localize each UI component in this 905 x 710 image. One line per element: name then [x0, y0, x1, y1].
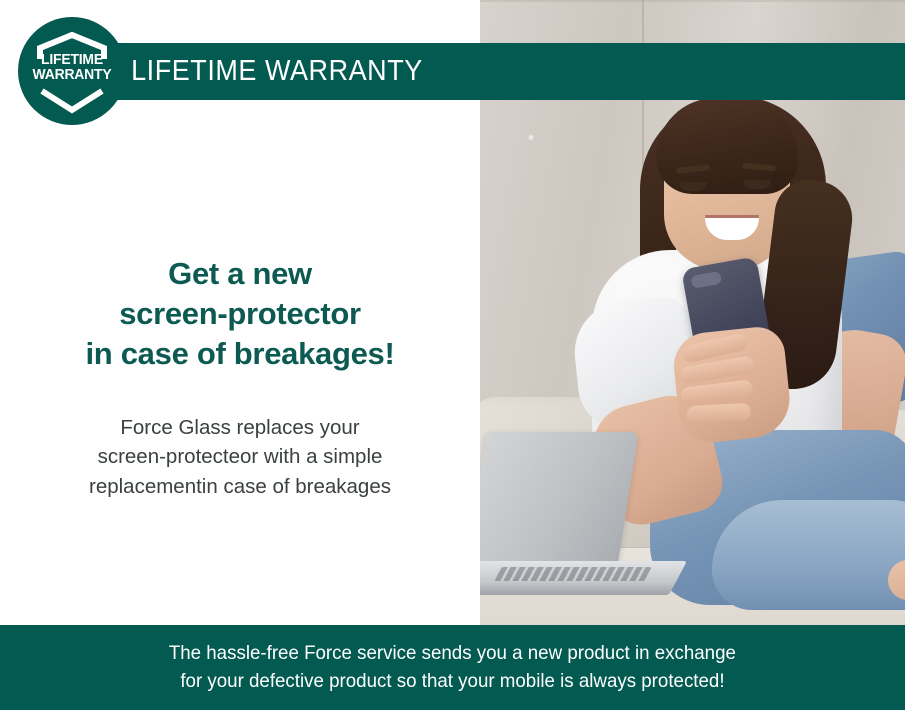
lifetime-warranty-banner: LIFETIME WARRANTY LIFETIME WARRANTY Get … — [0, 0, 905, 710]
subcopy-line-3: replacementin case of breakages — [89, 472, 391, 501]
footer-line-2: for your defective product so that your … — [180, 668, 724, 696]
person-hand — [671, 324, 794, 445]
header-bar: LIFETIME WARRANTY — [66, 43, 905, 100]
finger — [686, 403, 751, 423]
wall-seam-top — [480, 0, 905, 2]
badge-line-1: LIFETIME — [26, 53, 118, 68]
badge-line-2: WARRANTY — [26, 68, 118, 83]
badge-inner: LIFETIME WARRANTY — [24, 23, 120, 119]
headline-line-3: in case of breakages! — [85, 334, 394, 374]
subcopy-line-2: screen-protecteor with a simple — [89, 442, 391, 471]
headline: Get a new screen-protector in case of br… — [85, 254, 394, 373]
subcopy-line-1: Force Glass replaces your — [89, 413, 391, 442]
footer-bar: The hassle-free Force service sends you … — [0, 625, 905, 710]
laptop-keyboard — [494, 567, 651, 581]
left-content-pane: Get a new screen-protector in case of br… — [0, 130, 480, 625]
person-near-leg-lower — [712, 500, 905, 610]
person-hair-top — [656, 98, 798, 194]
phone-camera-icon — [690, 271, 722, 289]
lifetime-warranty-badge: LIFETIME WARRANTY — [18, 17, 126, 125]
footer-line-1: The hassle-free Force service sends you … — [169, 640, 736, 668]
badge-text: LIFETIME WARRANTY — [24, 53, 120, 83]
laptop-screen — [480, 432, 639, 567]
subcopy: Force Glass replaces your screen-protect… — [89, 413, 391, 500]
headline-line-2: screen-protector — [85, 294, 394, 334]
headline-line-1: Get a new — [85, 254, 394, 294]
